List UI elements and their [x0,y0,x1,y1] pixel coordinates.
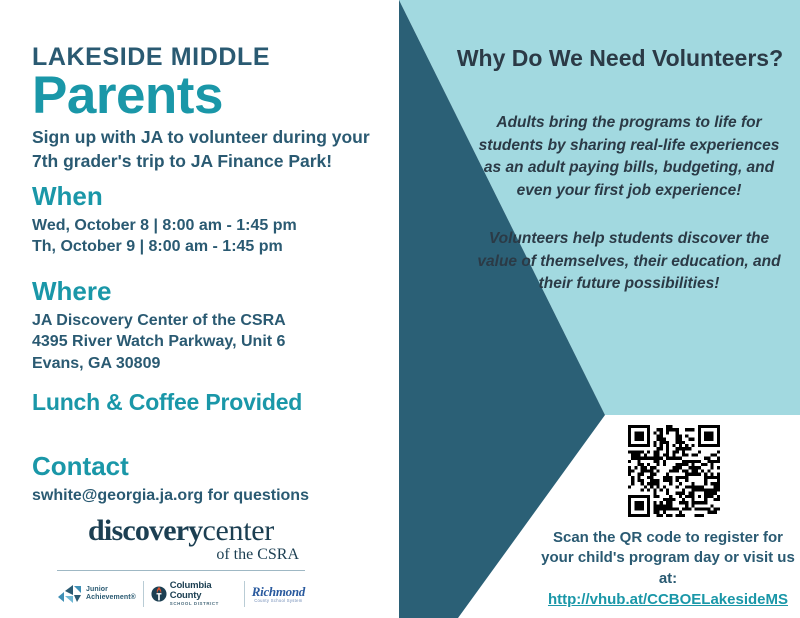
logo-subtitle: of the CSRA [57,547,305,563]
right-panel-paragraph-1: Adults bring the programs to life for st… [470,112,788,203]
right-panel-title: Why Do We Need Volunteers? [455,43,785,73]
where-line-1: JA Discovery Center of the CSRA [32,310,286,331]
logo-wordmark: discoverycenter [57,516,305,546]
subheadline: Sign up with JA to volunteer during your… [32,125,372,173]
where-heading: Where [32,277,286,307]
qr-caption-text: Scan the QR code to register for your ch… [541,529,795,587]
lunch-note: Lunch & Coffee Provided [32,389,302,416]
contact-block: Contact swhite@georgia.ja.org for questi… [32,452,309,506]
where-block: Where JA Discovery Center of the CSRA 43… [32,277,286,374]
where-line-3: Evans, GA 30809 [32,353,286,374]
when-block: When Wed, October 8 | 8:00 am - 1:45 pm … [32,182,297,258]
when-line-1: Wed, October 8 | 8:00 am - 1:45 pm [32,215,297,236]
partner-logo-richmond-county: Richmond County School System [252,577,305,611]
when-heading: When [32,182,297,212]
contact-email-line: swhite@georgia.ja.org for questions [32,485,309,506]
junior-achievement-icon [57,584,83,604]
richmond-county-wordmark: Richmond County School System [252,585,305,603]
logo-word-discovery: discovery [88,514,202,547]
flyer-canvas: LAKESIDE MIDDLE Parents Sign up with JA … [0,0,800,618]
contact-heading: Contact [32,452,309,482]
junior-achievement-wordmark: Junior Achievement® [86,586,136,603]
partner-logo-columbia-county: Columbia County SCHOOL DISTRICT [151,577,237,611]
page-title: Parents [32,66,223,127]
rc-line-2: County School System [252,599,305,603]
cc-line-1: Columbia County [170,581,237,601]
logo-word-center: center [202,514,273,547]
cc-line-2: SCHOOL DISTRICT [170,601,237,607]
rc-line-1: Richmond [252,585,305,598]
right-panel-paragraph-2: Volunteers help students discover the va… [470,228,788,296]
when-line-2: Th, October 9 | 8:00 am - 1:45 pm [32,236,297,257]
discovery-center-logo: discoverycenter of the CSRA Junior Achie… [57,516,305,611]
logo-divider-rule [57,570,305,571]
columbia-county-torch-icon [151,583,167,605]
qr-caption-block: Scan the QR code to register for your ch… [540,528,796,611]
partner-divider-2 [244,581,245,607]
columbia-county-wordmark: Columbia County SCHOOL DISTRICT [170,581,237,607]
ja-line-2: Achievement® [86,594,136,601]
partner-logos-row: Junior Achievement® Columbia County SCHO… [57,577,305,611]
partner-divider-1 [143,581,144,607]
qr-code-icon[interactable] [628,425,720,517]
ja-line-1: Junior [86,586,108,593]
where-line-2: 4395 River Watch Parkway, Unit 6 [32,331,286,352]
partner-logo-junior-achievement: Junior Achievement® [57,577,136,611]
registration-link[interactable]: http://vhub.at/CCBOELakesideMS [540,590,796,610]
